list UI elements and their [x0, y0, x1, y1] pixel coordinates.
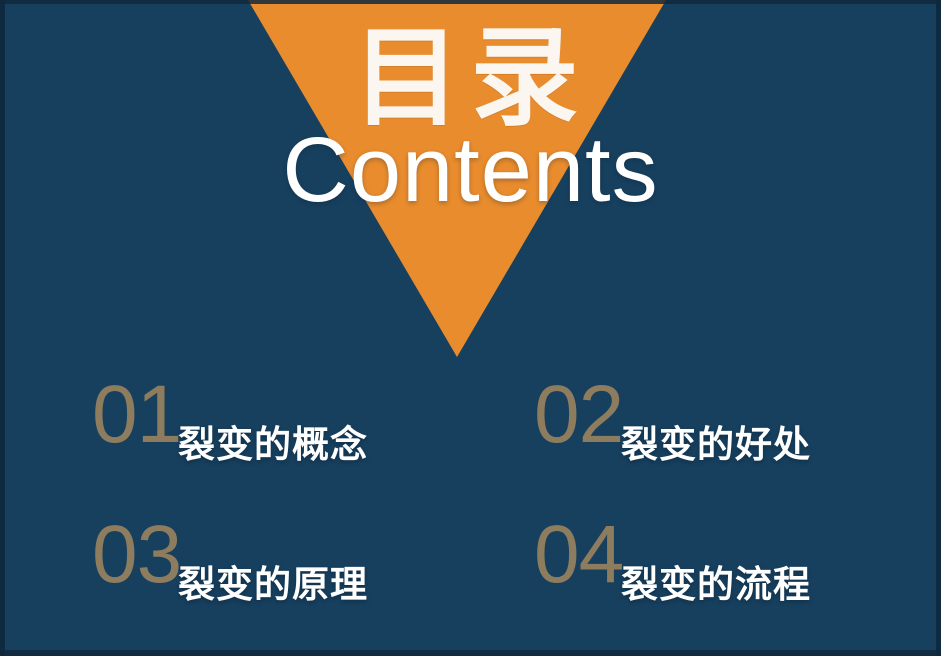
contents-item-01[interactable]: 01 裂变的概念	[76, 372, 516, 512]
contents-item-number: 03	[92, 514, 181, 596]
contents-item-02[interactable]: 02 裂变的好处	[516, 372, 941, 512]
contents-list: 01 裂变的概念 02 裂变的好处 03 裂变的原理 04 裂变的流程	[0, 372, 941, 642]
contents-item-label: 裂变的好处	[621, 426, 811, 463]
contents-item-03[interactable]: 03 裂变的原理	[76, 512, 516, 652]
contents-item-04[interactable]: 04 裂变的流程	[516, 512, 941, 652]
contents-item-label: 裂变的原理	[178, 566, 368, 603]
contents-item-number: 02	[534, 374, 623, 456]
contents-item-number: 01	[92, 374, 181, 456]
orange-triangle-graphic	[0, 0, 941, 360]
contents-item-number: 04	[534, 514, 623, 596]
presentation-slide: 目录 Contents 01 裂变的概念 02 裂变的好处 03 裂变的原理 0…	[0, 0, 941, 656]
contents-item-label: 裂变的概念	[178, 426, 368, 463]
contents-item-label: 裂变的流程	[621, 566, 811, 603]
